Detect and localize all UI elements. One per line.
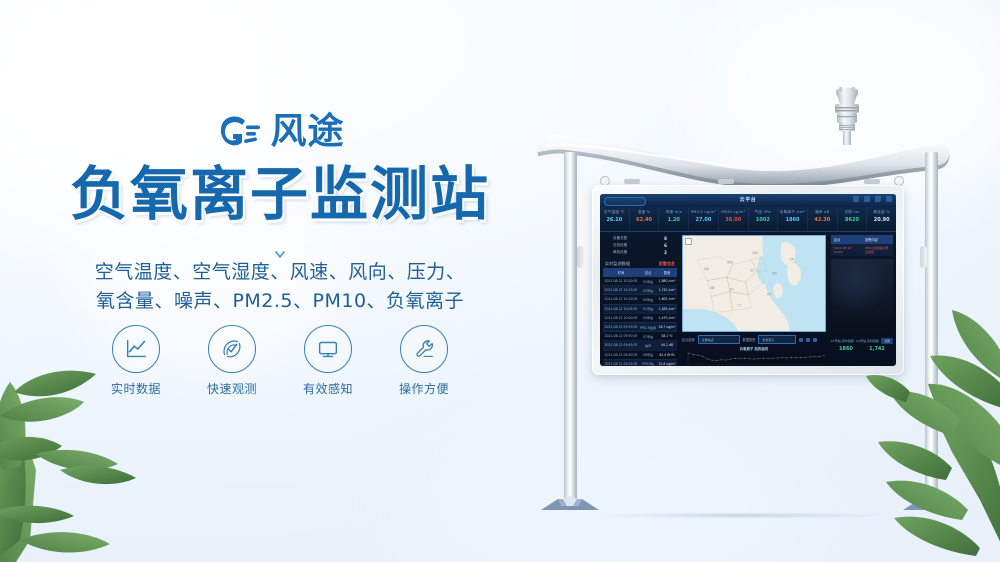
svg-text:内蒙古: 内蒙古	[727, 260, 734, 264]
stat-value: 27.00	[689, 218, 718, 223]
cell-time: 2021-08-12 10:05:05	[603, 304, 639, 313]
cell-time: 2021-08-12 10:15:05	[603, 286, 639, 295]
stat-card: PM10 ug/m³ 38.00	[719, 207, 749, 231]
col-time: 时间	[603, 268, 639, 277]
stat-label: PM2.5 ug/m³	[689, 210, 718, 215]
stat-label: 湿度 %	[630, 210, 659, 215]
camera-toolbar: 01号站 实时视频 02号站 实时视频 全屏	[831, 338, 893, 344]
kpi-row: 离线设备 2	[603, 249, 677, 256]
type-filter-label: 数据类型	[743, 337, 756, 342]
brand-logo-text: 风途	[270, 114, 344, 150]
table-row[interactable]: 2021-08-12 09:40:0508号站62.4 RH%	[603, 350, 677, 359]
monitoring-station-kiosk: 云平台 空气温度 ℃ 26.10 湿度 % 62.4	[520, 60, 990, 530]
dashboard-header: 云平台	[600, 194, 896, 207]
cell-time: 2021-08-12 10:00:05	[603, 313, 639, 322]
stat-card: 风速 m/s 1.20	[659, 207, 689, 231]
kpi-label: 在线设备	[613, 243, 627, 248]
alarm-time: 2021-08-12 09:50	[831, 244, 862, 256]
cell-value: 26.7 ug/m³	[657, 322, 677, 331]
kpi-row: 在线设备 6	[603, 242, 677, 249]
cell-value: 1,605 /cm³	[657, 295, 677, 304]
chart-plot: 01245608-11 10:0008-11 11:0008-11 12:000…	[682, 351, 826, 366]
kpi-value: 6	[664, 243, 667, 248]
left-panel: 设备总数 8 在线设备 6 离线设备 2	[600, 232, 680, 366]
stat-label: 风速 m/s	[659, 210, 688, 215]
stat-label: 氧含量 %	[867, 210, 896, 215]
stat-value: 1860	[778, 218, 807, 223]
header-icon-group	[853, 196, 892, 202]
cell-station: PM2.5检测	[639, 322, 657, 331]
layers-icon[interactable]	[853, 196, 859, 202]
svg-text:黑龙江: 黑龙江	[752, 250, 759, 254]
feature-item-effective-sensing[interactable]: 有效感知	[297, 325, 359, 397]
cell-station: 噪声	[639, 341, 657, 350]
stat-card: 气压 hPa 1002	[749, 207, 779, 231]
cell-station: 02号站	[639, 286, 657, 295]
support-post-right	[925, 152, 938, 504]
feature-label: 快速观测	[201, 380, 263, 397]
table-title: 实时监测数据	[605, 261, 630, 267]
side-hinge-right	[920, 246, 927, 268]
alarm-row: 2021-08-12 09:50 PM10浓度超过预设阈值	[831, 244, 893, 256]
stat-value: 20.90	[867, 218, 896, 223]
map-zoom-control[interactable]	[685, 238, 692, 245]
cell-value: 1,583 /cm³	[657, 304, 677, 313]
stat-label: 空气温度 ℃	[600, 210, 629, 215]
cell-station: 04号站	[639, 313, 657, 322]
svg-text:2: 2	[687, 359, 688, 361]
cell-value: 38.1 ℃	[657, 332, 677, 341]
svg-text:西藏: 西藏	[710, 285, 715, 289]
refresh-icon[interactable]	[799, 338, 803, 342]
base-plate-left	[539, 496, 601, 513]
spec-line-1: 空气温度、空气湿度、风速、风向、压力、	[0, 258, 560, 287]
svg-text:5: 5	[687, 354, 688, 356]
stat-label: 气压 hPa	[749, 210, 778, 215]
wrench-icon	[400, 325, 448, 373]
svg-text:韩国: 韩国	[772, 271, 777, 275]
cell-value: 44.2 dB	[657, 341, 677, 350]
hero-text-block: 风途 负氧离子监测站 空气温度、空气湿度、风速、风向、压力、 氧含量、噪声、PM…	[0, 0, 560, 562]
kpi-row: 设备总数 8	[603, 235, 677, 242]
stat-value: 1.20	[659, 218, 688, 223]
brand-logo: 风途	[0, 112, 560, 152]
stat-value: 38.00	[719, 218, 748, 223]
stat-card: 光照 lux 8620	[838, 207, 868, 231]
stat-card: 噪声 dB 42.30	[808, 207, 838, 231]
feature-item-fast-observation[interactable]: 快速观测	[201, 325, 263, 397]
user-icon[interactable]	[875, 196, 881, 202]
alarm-col-station: 站点	[831, 235, 862, 244]
right-panel: 站点 报警内容 2021-08-12 09:50 PM10浓度超过预设阈值 01…	[828, 232, 896, 366]
summary-value-left: 1860	[839, 346, 853, 352]
stat-strip: 空气温度 ℃ 26.10 湿度 % 62.40 风速 m/s 1.20 PM2.…	[600, 207, 896, 232]
station-filter-label: 站点选择	[682, 337, 695, 342]
table-row[interactable]: 2021-08-12 10:05:0501号站1,583 /cm³	[603, 304, 677, 313]
stat-value: 42.30	[808, 218, 837, 223]
svg-text:0: 0	[687, 364, 688, 366]
svg-text:6: 6	[687, 352, 688, 354]
stat-value: 26.10	[600, 218, 629, 223]
spec-line-2: 氧含量、噪声、PM2.5、PM10、负氧离子	[0, 287, 560, 316]
logout-icon[interactable]	[886, 196, 892, 202]
feature-label: 操作方便	[393, 380, 455, 397]
cell-time: 2021-08-12 09:35:05	[603, 359, 639, 366]
dashboard-title: 云平台	[600, 196, 896, 203]
stat-label: 负氧离子 /cm³	[778, 210, 807, 215]
svg-text:北京: 北京	[750, 268, 755, 272]
base-plate-right	[901, 496, 963, 513]
alarm-badge[interactable]: 报警信息	[659, 261, 675, 267]
stat-label: 光照 lux	[838, 210, 867, 215]
feature-label: 有效感知	[297, 380, 359, 397]
table-row[interactable]: 2021-08-12 09:50:0507号站38.1 ℃	[603, 332, 677, 341]
alarm-text: PM10浓度超过预设阈值	[862, 244, 893, 256]
stat-value: 8620	[838, 218, 867, 223]
cell-station: 08号站	[639, 350, 657, 359]
kpi-label: 离线设备	[613, 250, 627, 255]
data-table: 时间 站点 数值 2021-08-12 10:20:0501号站1,860 /c…	[603, 268, 677, 366]
dashboard-screen[interactable]: 云平台 空气温度 ℃ 26.10 湿度 % 62.4	[600, 194, 896, 366]
map-vector: 新疆 内蒙古 黑龙江 北京 西藏 四川 广东 台湾 日本 韩国	[683, 236, 825, 331]
col-station: 站点	[639, 268, 657, 277]
support-post-left	[564, 152, 577, 504]
cell-time: 2021-08-12 09:40:05	[603, 350, 639, 359]
stat-label: 噪声 dB	[808, 210, 837, 215]
mount-tab	[864, 179, 880, 184]
stat-label: PM10 ug/m³	[719, 210, 748, 215]
cell-value: 62.4 RH%	[657, 350, 677, 359]
cell-time: 2021-08-12 09:45:05	[603, 341, 639, 350]
map-controls: 站点选择 全部站点 数据类型 负氧离子	[682, 335, 826, 344]
feature-item-easy-operation[interactable]: 操作方便	[393, 325, 455, 397]
ground-shadow	[538, 511, 948, 520]
cell-station: 01号站	[639, 277, 657, 286]
kpi-value: 8	[664, 236, 667, 241]
feature-label: 实时数据	[105, 380, 167, 397]
table-row[interactable]: 2021-08-12 10:00:0504号站1,470 /cm³	[603, 313, 677, 322]
summary-value-right: 1,742	[869, 346, 885, 352]
kpi-value: 2	[664, 250, 667, 255]
cell-time: 2021-08-12 10:10:05	[603, 295, 639, 304]
cell-station: 07号站	[639, 332, 657, 341]
cell-value: 1,470 /cm³	[657, 313, 677, 322]
cell-time: 2021-08-12 10:20:05	[603, 277, 639, 286]
cell-station: 03号站	[639, 295, 657, 304]
table-row[interactable]: 2021-08-12 09:55:05PM2.5检测26.7 ug/m³	[603, 322, 677, 331]
table-row[interactable]: 2021-08-12 09:35:05PM10站31.8 ug/m³	[603, 359, 677, 366]
camera-tag-2: 02号站 实时视频	[856, 339, 879, 343]
promo-poster: 风途 负氧离子监测站 空气温度、空气湿度、风速、风向、压力、 氧含量、噪声、PM…	[0, 0, 1000, 562]
col-value: 数值	[657, 268, 677, 277]
stat-card: 负氧离子 /cm³ 1860	[778, 207, 808, 231]
stat-card: 氧含量 % 20.90	[867, 207, 896, 231]
table-row[interactable]: 2021-08-12 10:15:0502号站1,742 /cm³	[603, 286, 677, 295]
stat-card: PM2.5 ug/m³ 27.00	[689, 207, 719, 231]
stat-value: 62.40	[630, 218, 659, 223]
alarm-table-header: 站点 报警内容	[831, 235, 893, 244]
camera-fullscreen-button[interactable]: 全屏	[881, 338, 893, 344]
table-row[interactable]: 2021-08-12 10:10:0503号站1,605 /cm³	[603, 295, 677, 304]
cell-station: 01号站	[639, 304, 657, 313]
type-filter-select[interactable]: 负氧离子	[758, 335, 796, 344]
alarm-col-content: 报警内容	[862, 235, 893, 244]
stat-value: 1002	[749, 218, 778, 223]
station-filter-select[interactable]: 全部站点	[698, 335, 740, 344]
wind-g-logo-icon	[215, 112, 261, 152]
table-row[interactable]: 2021-08-12 10:20:0501号站1,860 /cm³	[603, 277, 677, 286]
page-title: 负氧离子监测站	[0, 163, 560, 226]
china-map[interactable]: 新疆 内蒙古 黑龙江 北京 西藏 四川 广东 台湾 日本 韩国	[682, 235, 826, 332]
title-divider-icon	[275, 247, 285, 257]
spec-list: 空气温度、空气湿度、风速、风向、压力、 氧含量、噪声、PM2.5、PM10、负氧…	[0, 258, 560, 317]
feature-row: 实时数据 快速观测	[0, 325, 560, 397]
stat-card: 空气温度 ℃ 26.10	[600, 207, 630, 231]
svg-text:日本: 日本	[789, 257, 794, 261]
table-header-bar: 实时监测数据 报警信息	[603, 260, 677, 268]
dashboard-body: 设备总数 8 在线设备 6 离线设备 2	[600, 232, 896, 366]
stat-card: 湿度 % 62.40	[630, 207, 660, 231]
fullscreen-icon[interactable]	[813, 338, 817, 342]
camera-feed[interactable]	[831, 259, 893, 336]
mount-tab	[624, 179, 640, 184]
table-body: 2021-08-12 10:20:0501号站1,860 /cm³2021-08…	[603, 277, 677, 366]
line-chart-icon	[112, 325, 160, 373]
camera-tag-1: 01号站 实时视频	[831, 339, 854, 343]
svg-text:广东: 广东	[737, 303, 742, 307]
cell-time: 2021-08-12 09:50:05	[603, 332, 639, 341]
canopy-roof	[532, 126, 952, 190]
monitor-icon	[304, 325, 352, 373]
cell-value: 1,742 /cm³	[657, 286, 677, 295]
side-hinge-left	[577, 246, 584, 268]
kpi-list: 设备总数 8 在线设备 6 离线设备 2	[603, 235, 677, 256]
table-row[interactable]: 2021-08-12 09:45:05噪声44.2 dB	[603, 341, 677, 350]
table-head-row: 时间 站点 数值	[603, 268, 677, 277]
map-panel: 新疆 内蒙古 黑龙江 北京 西藏 四川 广东 台湾 日本 韩国	[680, 232, 828, 366]
mount-tab	[718, 179, 734, 184]
settings-icon[interactable]	[864, 196, 870, 202]
summary-values: 1860 1,742	[831, 346, 893, 352]
svg-text:新疆: 新疆	[704, 266, 709, 270]
display-frame: 云平台 空气温度 ℃ 26.10 湿度 % 62.4	[592, 185, 904, 375]
kpi-label: 设备总数	[613, 236, 627, 241]
svg-text:4: 4	[687, 357, 688, 359]
radar-signal-icon	[208, 325, 256, 373]
svg-text:四川: 四川	[730, 288, 734, 291]
feature-item-realtime-data[interactable]: 实时数据	[105, 325, 167, 397]
export-icon[interactable]	[806, 338, 810, 342]
svg-text:台湾: 台湾	[767, 292, 772, 296]
cell-value: 31.8 ug/m³	[657, 359, 677, 366]
cell-value: 1,860 /cm³	[657, 277, 677, 286]
cell-time: 2021-08-12 09:55:05	[603, 322, 639, 331]
cell-station: PM10站	[639, 359, 657, 366]
svg-text:1: 1	[687, 362, 688, 364]
trend-chart: 负氧离子 趋势曲线 01245608-11 10:0008-11 11:0008…	[682, 346, 826, 366]
